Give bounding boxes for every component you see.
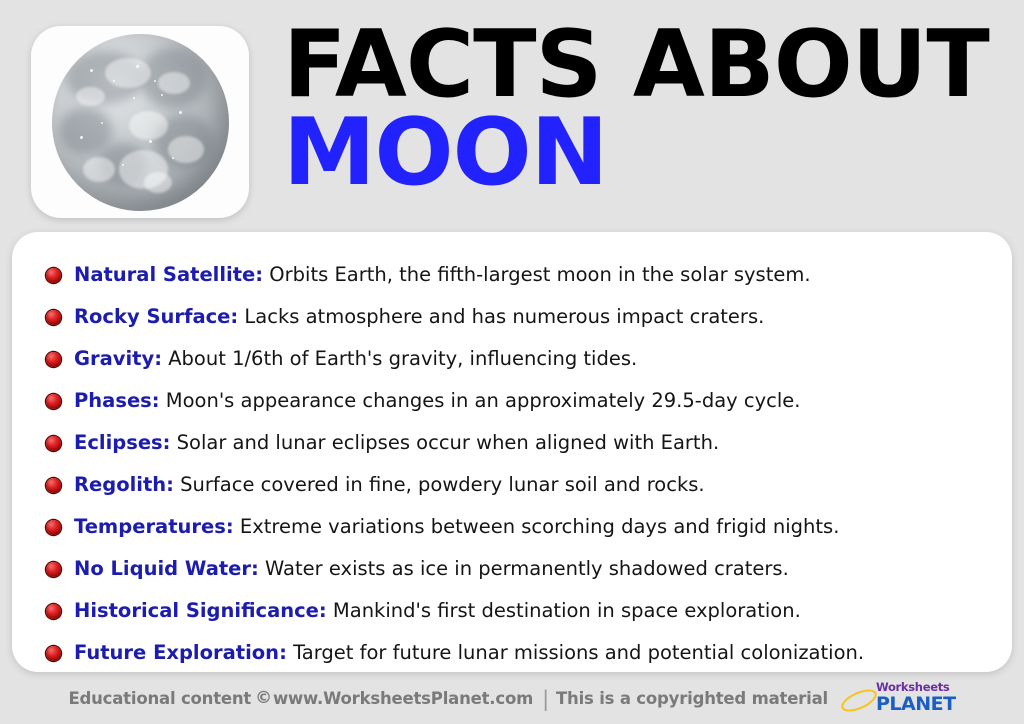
fact-label: Historical Significance: [74,599,327,622]
fact-list-item: Future Exploration: Target for future lu… [12,632,1012,674]
fact-label: Natural Satellite: [74,263,263,286]
fact-description: Orbits Earth, the fifth-largest moon in … [263,263,810,286]
page-title: FACTS ABOUT MOON [283,22,989,195]
fact-text: Phases: Moon's appearance changes in an … [74,380,800,422]
fact-text: Temperatures: Extreme variations between… [74,506,839,548]
footer-educational-label: Educational content [68,689,251,708]
fact-label: No Liquid Water: [74,557,259,580]
bullet-icon [46,268,61,283]
bullet-icon [46,436,61,451]
fact-label: Future Exploration: [74,641,287,664]
bullet-icon [46,394,61,409]
planet-icon [840,683,874,713]
title-line-moon: MOON [283,110,989,196]
fact-text: Natural Satellite: Orbits Earth, the fif… [74,254,811,296]
fact-list-item: Eclipses: Solar and lunar eclipses occur… [12,422,1012,464]
facts-list: Natural Satellite: Orbits Earth, the fif… [12,232,1012,674]
fact-text: No Liquid Water: Water exists as ice in … [74,548,789,590]
fact-label: Temperatures: [74,515,234,538]
moon-image [52,34,229,211]
fact-text: Gravity: About 1/6th of Earth's gravity,… [74,338,637,380]
fact-description: Moon's appearance changes in an approxim… [160,389,801,412]
bullet-icon [46,310,61,325]
fact-description: Lacks atmosphere and has numerous impact… [238,305,764,328]
fact-text: Rocky Surface: Lacks atmosphere and has … [74,296,764,338]
title-line-facts-about: FACTS ABOUT [283,22,989,108]
bullet-icon [46,562,61,577]
fact-description: Extreme variations between scorching day… [234,515,840,538]
footer-separator: | [542,689,549,710]
bullet-icon [46,646,61,661]
fact-text: Eclipses: Solar and lunar eclipses occur… [74,422,719,464]
fact-label: Phases: [74,389,160,412]
fact-label: Eclipses: [74,431,170,454]
fact-list-item: No Liquid Water: Water exists as ice in … [12,548,1012,590]
footer-text: Educational content © www.WorksheetsPlan… [68,682,955,714]
fact-label: Gravity: [74,347,162,370]
worksheets-planet-logo[interactable]: Worksheets PLANET [840,682,956,714]
fact-description: Target for future lunar missions and pot… [287,641,864,664]
bullet-icon [46,352,61,367]
bullet-icon [46,604,61,619]
fact-description: Solar and lunar eclipses occur when alig… [170,431,719,454]
bullet-icon [46,478,61,493]
facts-card: Natural Satellite: Orbits Earth, the fif… [12,232,1012,672]
fact-description: About 1/6th of Earth's gravity, influenc… [162,347,637,370]
footer-website-link[interactable]: www.WorksheetsPlanet.com [273,689,533,708]
fact-text: Historical Significance: Mankind's first… [74,590,801,632]
footer: Educational content © www.WorksheetsPlan… [0,672,1024,724]
fact-label: Rocky Surface: [74,305,238,328]
fact-list-item: Temperatures: Extreme variations between… [12,506,1012,548]
header: FACTS ABOUT MOON [0,0,1024,232]
footer-copyright-notice: This is a copyrighted material [556,689,828,708]
fact-text: Regolith: Surface covered in fine, powde… [74,464,705,506]
fact-list-item: Natural Satellite: Orbits Earth, the fif… [12,254,1012,296]
fact-description: Surface covered in fine, powdery lunar s… [174,473,705,496]
copyright-icon: © [255,688,272,708]
logo-word-planet: PLANET [876,695,956,714]
moon-image-card [31,26,249,218]
fact-text: Future Exploration: Target for future lu… [74,632,864,674]
fact-list-item: Rocky Surface: Lacks atmosphere and has … [12,296,1012,338]
fact-label: Regolith: [74,473,174,496]
fact-list-item: Gravity: About 1/6th of Earth's gravity,… [12,338,1012,380]
fact-list-item: Regolith: Surface covered in fine, powde… [12,464,1012,506]
fact-description: Mankind's first destination in space exp… [327,599,801,622]
fact-list-item: Historical Significance: Mankind's first… [12,590,1012,632]
fact-list-item: Phases: Moon's appearance changes in an … [12,380,1012,422]
fact-description: Water exists as ice in permanently shado… [259,557,789,580]
bullet-icon [46,520,61,535]
